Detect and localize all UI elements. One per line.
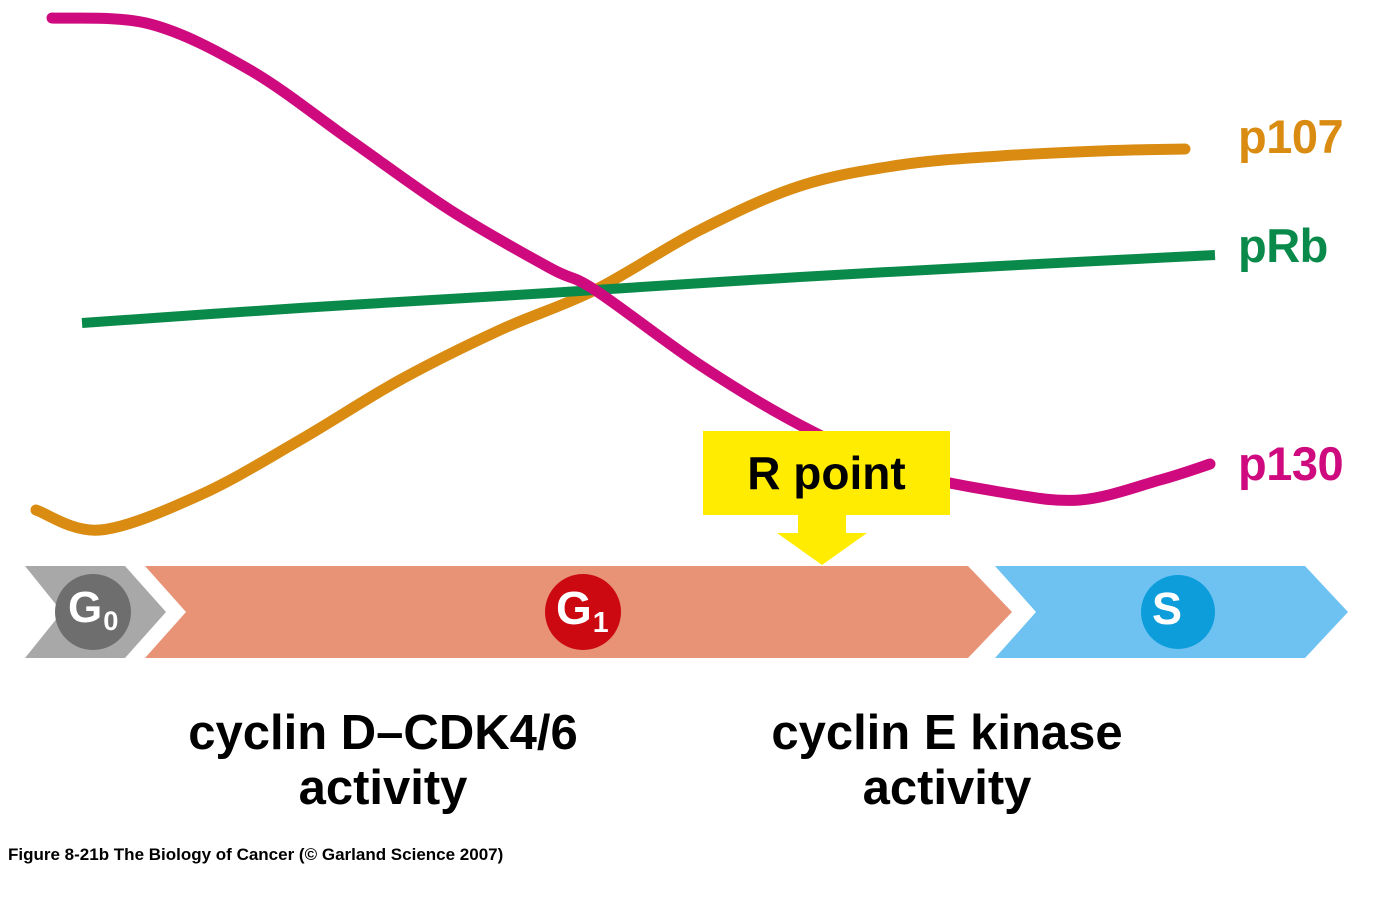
curve-label-p107: p107 [1238, 113, 1343, 160]
phase-letter-g1: G1 [556, 585, 608, 631]
activity-right-line2: activity [712, 761, 1182, 816]
figure-canvas: p107 pRb p130 R point G0 G1 S cyclin D–C… [0, 0, 1400, 897]
activity-label-left: cyclin D–CDK4/6 activity [118, 706, 648, 816]
cell-cycle-phase-bar [0, 552, 1400, 672]
activity-label-right: cyclin E kinase activity [712, 706, 1182, 816]
curve-label-p130: p130 [1238, 440, 1343, 487]
r-point-label: R point [747, 446, 905, 500]
activity-right-line1: cyclin E kinase [712, 706, 1182, 761]
figure-caption: Figure 8-21b The Biology of Cancer (© Ga… [8, 845, 503, 865]
r-point-callout: R point [703, 431, 950, 515]
phase-letter-g0: G0 [68, 586, 117, 630]
activity-left-line2: activity [118, 761, 648, 816]
curve-label-pRb: pRb [1238, 222, 1328, 269]
activity-left-line1: cyclin D–CDK4/6 [118, 706, 648, 761]
phase-letter-s: S [1152, 586, 1182, 631]
